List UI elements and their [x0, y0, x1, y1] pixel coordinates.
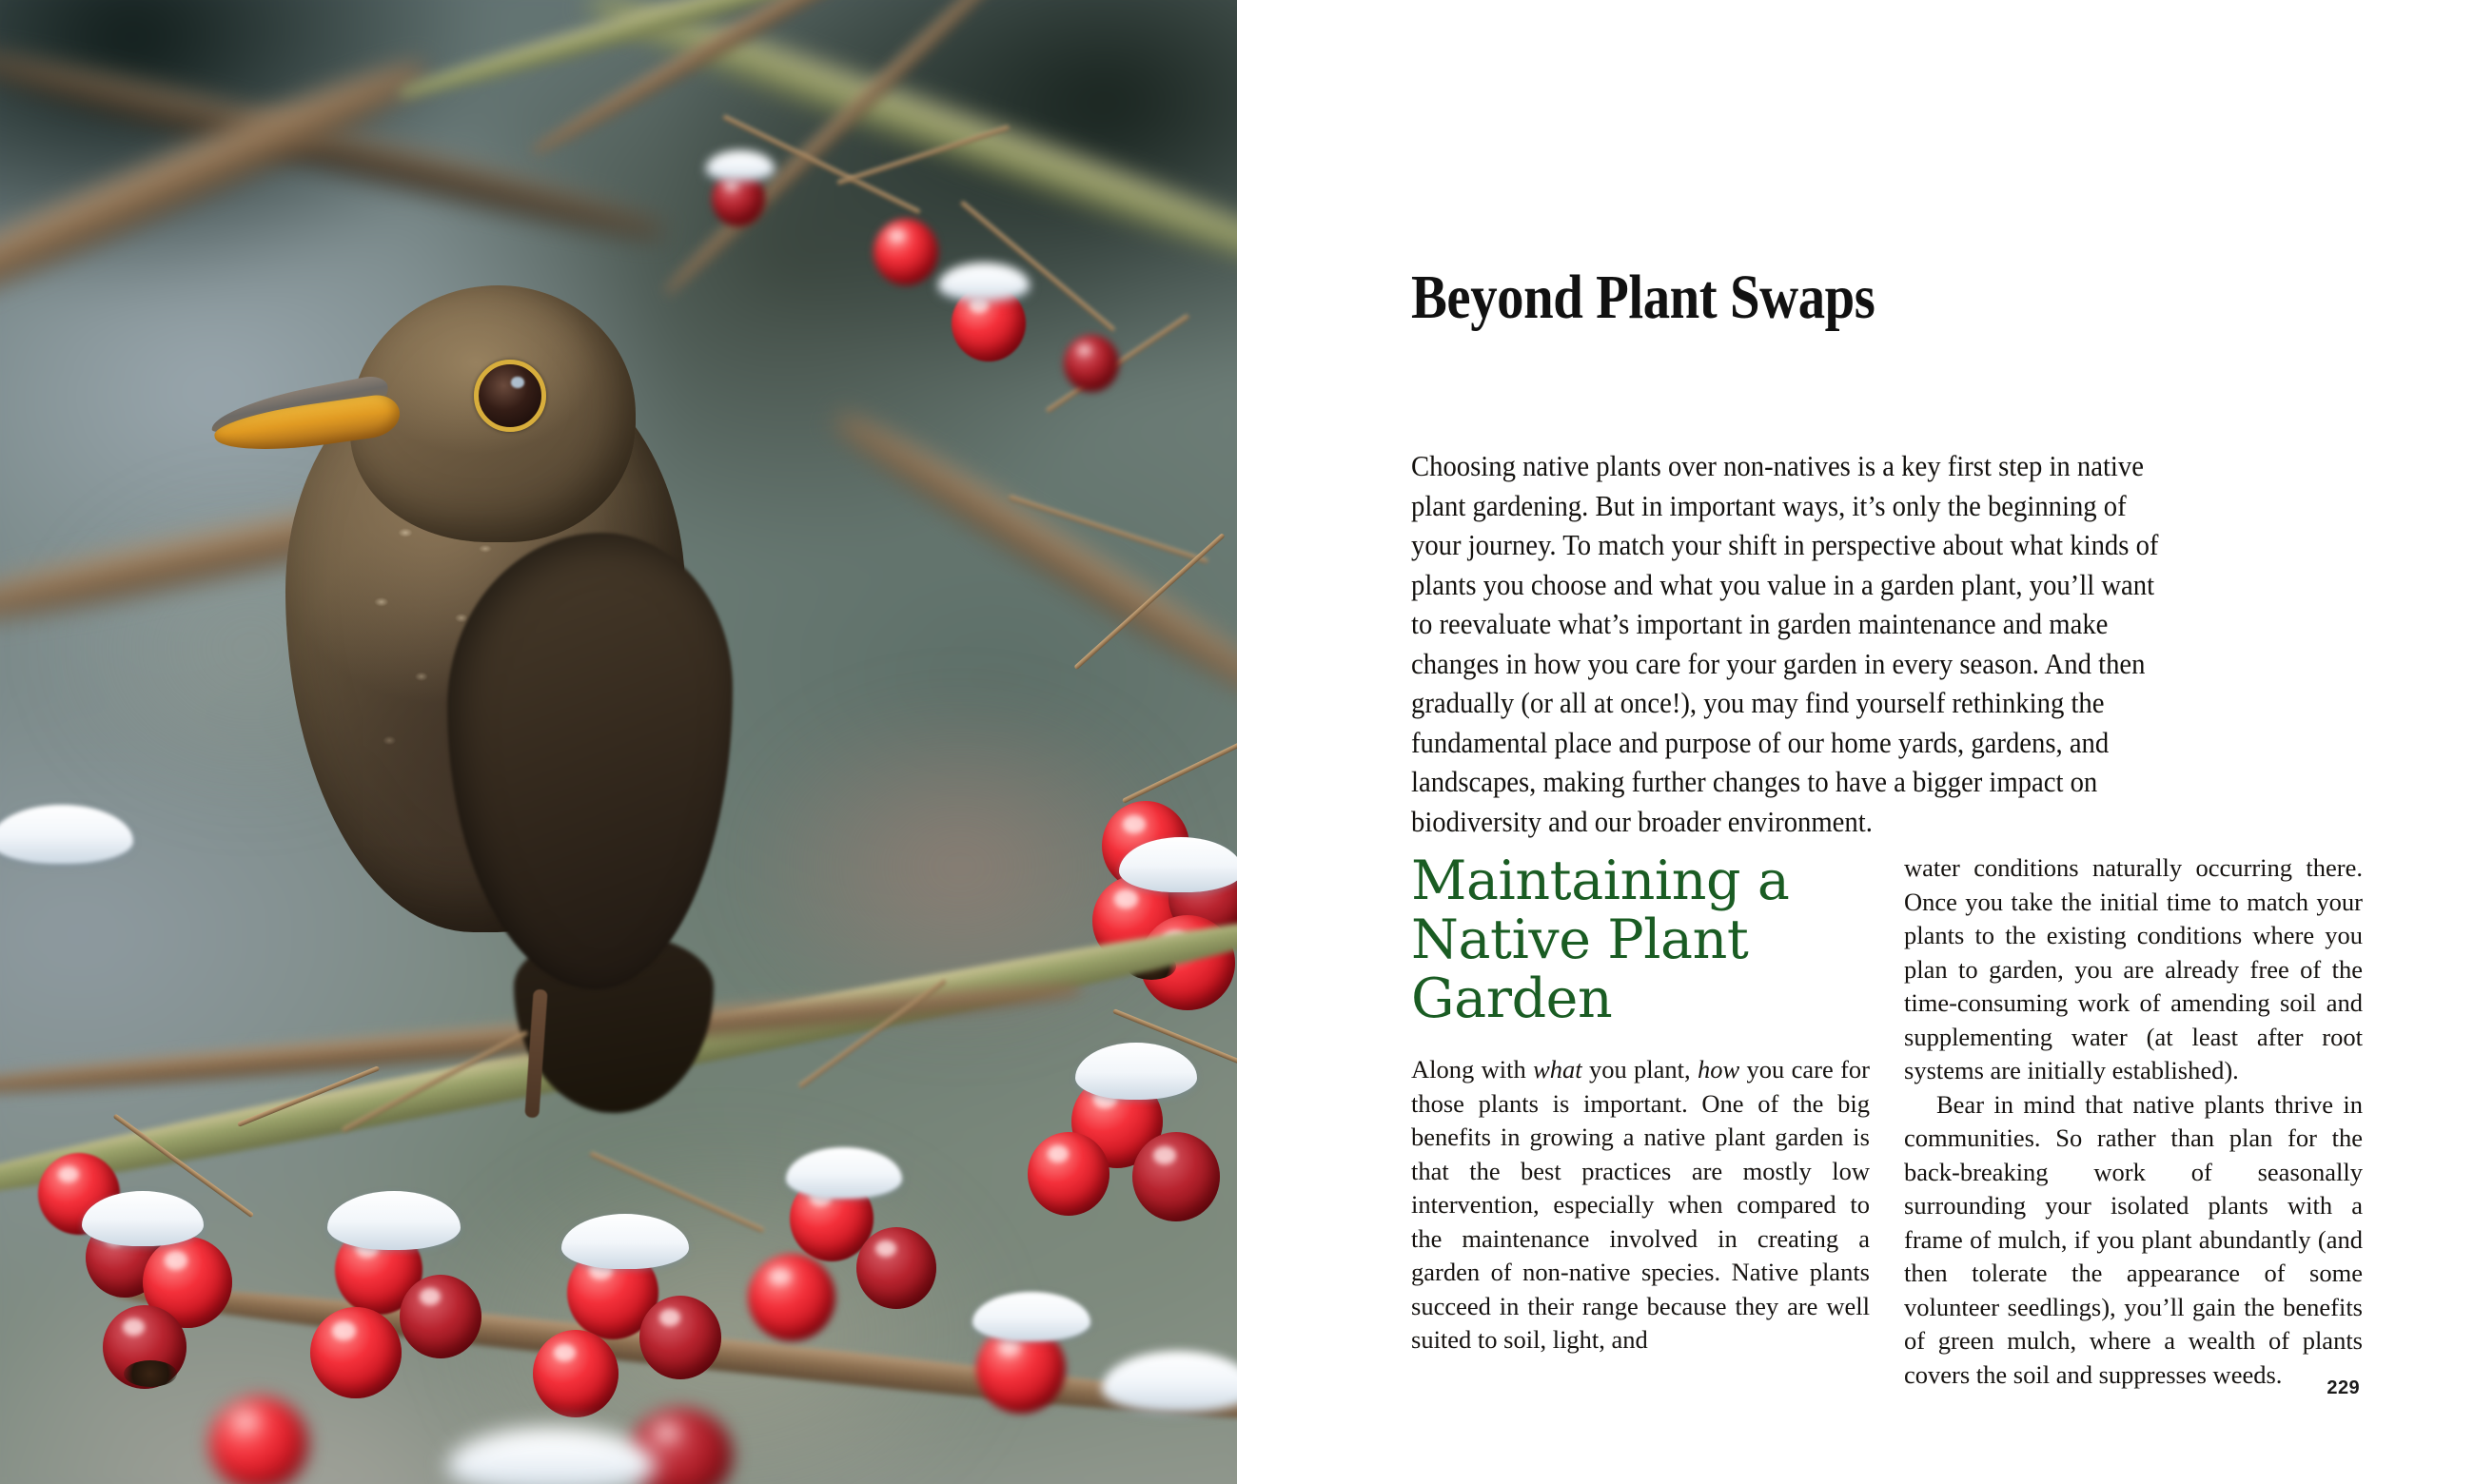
text-page: Beyond Plant Swaps Choosing native plant…: [1237, 0, 2474, 1484]
column-left: Maintaining a Native Plant Garden Along …: [1411, 851, 1870, 1392]
book-spread: Beyond Plant Swaps Choosing native plant…: [0, 0, 2474, 1484]
berry: [748, 1254, 835, 1341]
column-right: water conditions naturally occurring the…: [1904, 851, 2363, 1392]
column-left-text: Along with what you plant, how you care …: [1411, 1053, 1870, 1357]
page-content-area: Beyond Plant Swaps Choosing native plant…: [1411, 0, 2363, 1484]
paragraph: water conditions naturally occurring the…: [1904, 851, 2363, 1088]
berry: [533, 1330, 618, 1417]
section-heading: Maintaining a Native Plant Garden: [1411, 851, 1870, 1028]
berry: [310, 1307, 402, 1398]
nature-photograph: [0, 0, 1237, 1484]
berry: [209, 1396, 308, 1484]
berry: [1028, 1132, 1109, 1216]
text-run: you care for those plants is important. …: [1411, 1055, 1870, 1354]
emphasis-what: what: [1533, 1055, 1582, 1084]
paragraph: Bear in mind that native plants thrive i…: [1904, 1088, 2363, 1393]
berry: [639, 1296, 721, 1379]
berry: [874, 219, 938, 285]
emphasis-how: how: [1698, 1055, 1739, 1084]
column-right-text: water conditions naturally occurring the…: [1904, 851, 2363, 1392]
berry: [856, 1227, 936, 1309]
berry-calyx: [124, 1360, 177, 1387]
berry: [400, 1275, 481, 1358]
text-run: you plant,: [1582, 1055, 1698, 1084]
intro-paragraph: Choosing native plants over non-natives …: [1411, 447, 2180, 842]
berry: [1132, 1132, 1220, 1221]
text-run: Along with: [1411, 1055, 1533, 1084]
page-number: 229: [2327, 1377, 2360, 1399]
two-column-body: Maintaining a Native Plant Garden Along …: [1411, 851, 2363, 1392]
paragraph: Along with what you plant, how you care …: [1411, 1053, 1870, 1357]
bird-eye: [474, 360, 546, 432]
snow-cap: [706, 150, 775, 181]
page-title: Beyond Plant Swaps: [1411, 266, 1875, 329]
berry: [1064, 335, 1119, 392]
photo-page: [0, 0, 1237, 1484]
